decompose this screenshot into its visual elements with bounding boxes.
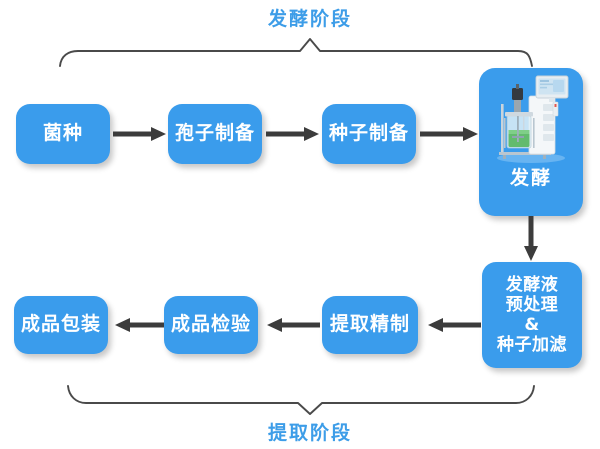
arrow-broth-pretreat-to-extraction [423, 316, 481, 334]
node-inspection-label: 成品检验 [171, 314, 251, 335]
arrow-extraction-to-inspection [262, 316, 320, 334]
brace-extraction-stage [64, 384, 538, 418]
stage-label-fermentation: 发酵阶段 [250, 4, 370, 31]
node-packaging-label: 成品包装 [21, 314, 101, 335]
node-broth-pretreat[interactable]: 发酵液 预处理 & 种子加滤 [482, 262, 582, 368]
node-strain-label: 菌种 [43, 123, 83, 144]
node-broth-pretreat-line-3: & [524, 315, 539, 335]
flowchart-canvas: 发酵阶段 菌种 孢子制备 种子制备 [0, 0, 600, 449]
node-extraction-label: 提取精制 [330, 314, 410, 335]
arrow-spore-prep-to-seed-prep [266, 125, 320, 143]
node-packaging[interactable]: 成品包装 [14, 296, 108, 354]
node-spore-prep-label: 孢子制备 [175, 123, 255, 144]
node-strain[interactable]: 菌种 [16, 104, 110, 164]
node-broth-pretreat-line-1: 发酵液 [506, 275, 559, 295]
node-spore-prep[interactable]: 孢子制备 [168, 104, 262, 164]
node-broth-pretreat-line-2: 预处理 [506, 295, 559, 315]
node-extraction[interactable]: 提取精制 [322, 296, 418, 354]
node-seed-prep-label: 种子制备 [329, 123, 409, 144]
arrow-fermentation-to-broth-pretreat [522, 216, 540, 262]
node-inspection[interactable]: 成品检验 [164, 296, 258, 354]
bioreactor-photo [485, 74, 577, 166]
brace-fermentation-stage [56, 34, 536, 68]
arrow-strain-to-spore-prep [113, 125, 167, 143]
arrow-inspection-to-packaging [110, 316, 164, 334]
node-fermentation-label: 发酵 [510, 168, 552, 189]
node-seed-prep[interactable]: 种子制备 [322, 104, 416, 164]
stage-label-extraction: 提取阶段 [250, 418, 370, 445]
node-fermentation[interactable]: 发酵 [479, 68, 583, 216]
arrow-seed-prep-to-fermentation [420, 125, 480, 143]
node-broth-pretreat-line-4: 种子加滤 [497, 335, 567, 355]
